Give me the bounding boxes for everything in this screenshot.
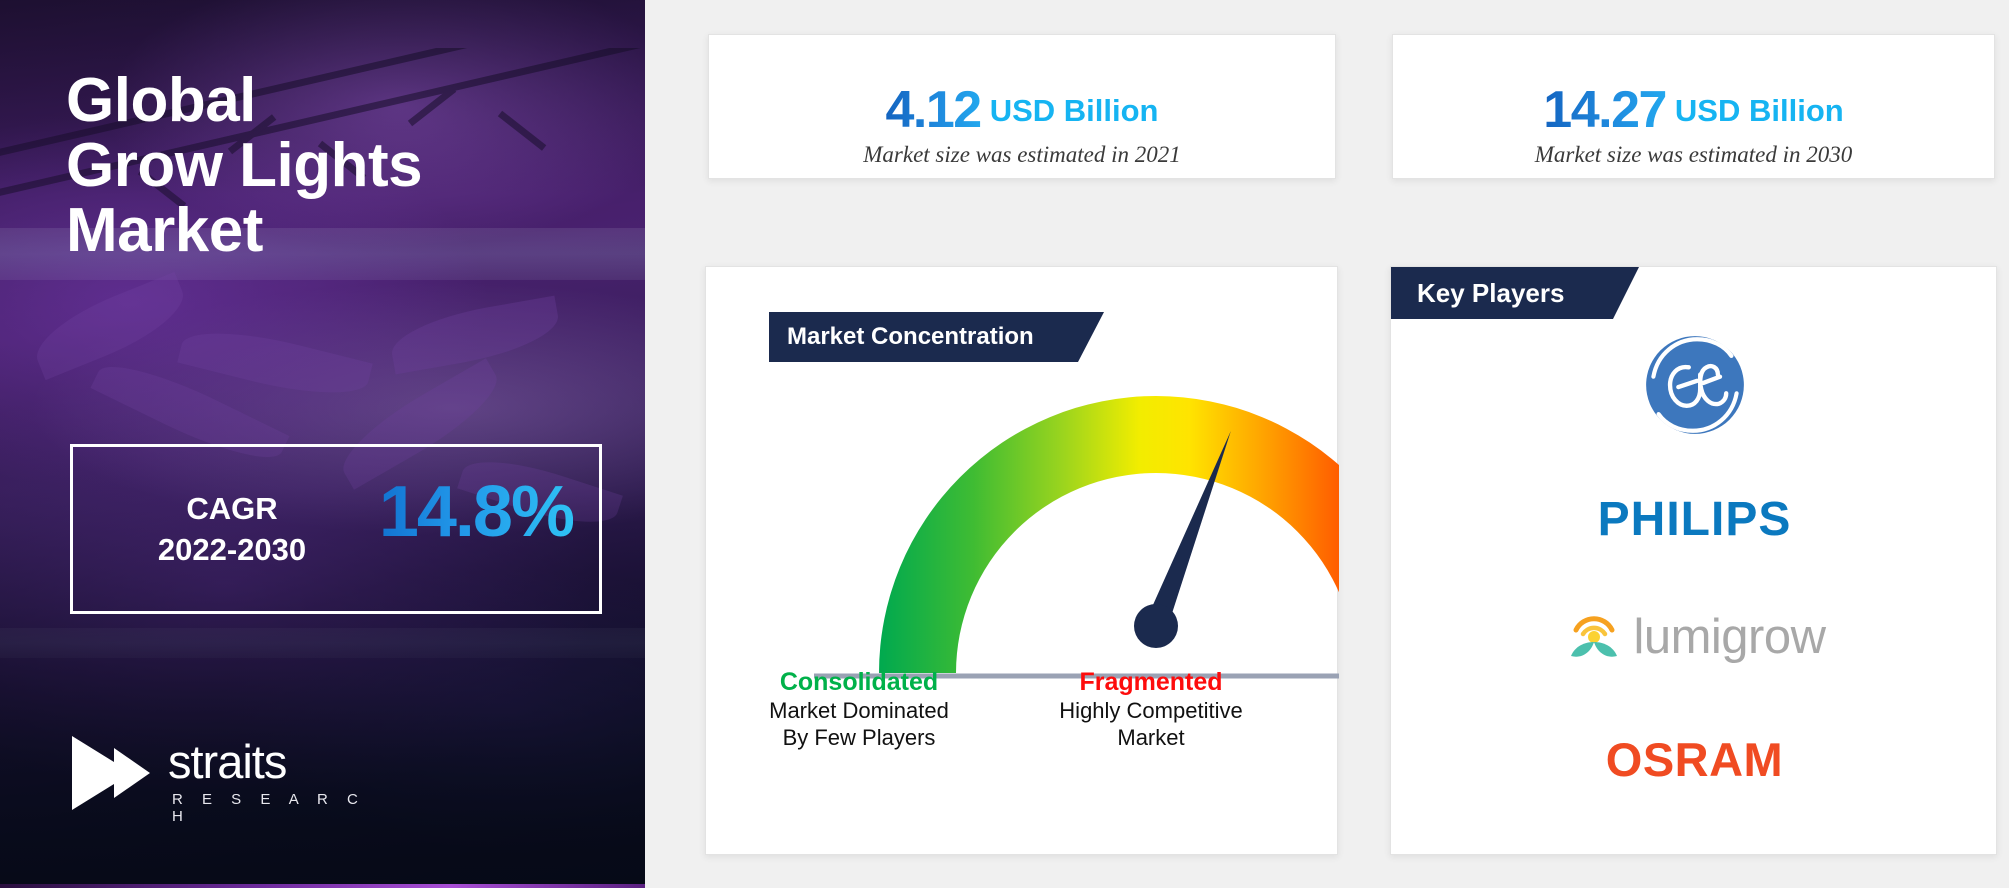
key-player-osram: OSRAM [1391, 707, 1998, 811]
market-size-card-2021: 4.12USD Billion Market size was estimate… [708, 34, 1336, 179]
cagr-box: CAGR 2022-2030 14.8% [70, 444, 602, 614]
gauge-legend-consolidated-title: Consolidated [734, 667, 984, 698]
brand-logo: straits R E S E A R C H [68, 728, 368, 820]
page-title-line-3: Market [66, 198, 586, 263]
stat-unit: USD Billion [1675, 93, 1844, 128]
stat-headline: 4.12USD Billion [709, 80, 1335, 140]
market-size-card-2030: 14.27USD Billion Market size was estimat… [1392, 34, 1995, 179]
brand-logo-word: straits [168, 734, 286, 789]
gauge-legend-fragmented-title: Fragmented [1026, 667, 1276, 698]
stat-caption: Market size was estimated in 2030 [1393, 142, 1994, 168]
cagr-label-line-1: CAGR [117, 489, 347, 530]
market-concentration-card: Market Concentration [705, 266, 1338, 855]
stat-unit: USD Billion [990, 93, 1159, 128]
brand-logo-subtitle: R E S E A R C H [172, 791, 368, 825]
osram-wordmark-icon: OSRAM [1606, 732, 1783, 787]
hero-bottom-accent-line [0, 884, 645, 888]
page-title-line-2: Grow Lights [66, 133, 586, 198]
ge-logo-icon [1643, 333, 1747, 437]
gauge-legend-consolidated-desc-2: By Few Players [734, 725, 984, 752]
infographic-root: Global Grow Lights Market CAGR 2022-2030… [0, 0, 2009, 888]
gauge-legend-fragmented-desc-1: Highly Competitive [1026, 698, 1276, 725]
stat-caption: Market size was estimated in 2021 [709, 142, 1335, 168]
key-player-philips: PHILIPS [1391, 467, 1998, 571]
stat-headline: 14.27USD Billion [1393, 80, 1994, 140]
page-title-line-1: Global [66, 68, 586, 133]
hero-panel: Global Grow Lights Market CAGR 2022-2030… [0, 0, 645, 888]
straits-arrow-icon [68, 734, 154, 812]
key-player-ge [1391, 333, 1998, 437]
gauge-legend-fragmented-desc-2: Market [1026, 725, 1276, 752]
stat-value: 4.12 [886, 81, 981, 139]
gauge-needle-hub [1134, 604, 1178, 648]
key-player-lumigrow: lumigrow [1391, 585, 1998, 689]
lumigrow-wordmark: lumigrow [1633, 609, 1825, 665]
lumigrow-logo-icon [1563, 606, 1625, 668]
cagr-label: CAGR 2022-2030 [117, 489, 347, 571]
page-title: Global Grow Lights Market [66, 68, 586, 263]
key-players-card: Key Players PHILIPS [1390, 266, 1997, 855]
gauge-arc [879, 396, 1339, 673]
gauge-legend-fragmented: Fragmented Highly Competitive Market [1026, 667, 1276, 752]
key-players-ribbon-label: Key Players [1417, 278, 1564, 309]
gauge-legend-consolidated-desc-1: Market Dominated [734, 698, 984, 725]
key-players-ribbon: Key Players [1391, 267, 1639, 319]
cagr-label-line-2: 2022-2030 [117, 530, 347, 571]
philips-wordmark-icon: PHILIPS [1598, 492, 1792, 547]
stat-value: 14.27 [1543, 81, 1666, 139]
cagr-value: 14.8% [379, 471, 573, 553]
gauge-legend-consolidated: Consolidated Market Dominated By Few Pla… [734, 667, 984, 752]
gauge-legend: Consolidated Market Dominated By Few Pla… [706, 667, 1339, 787]
